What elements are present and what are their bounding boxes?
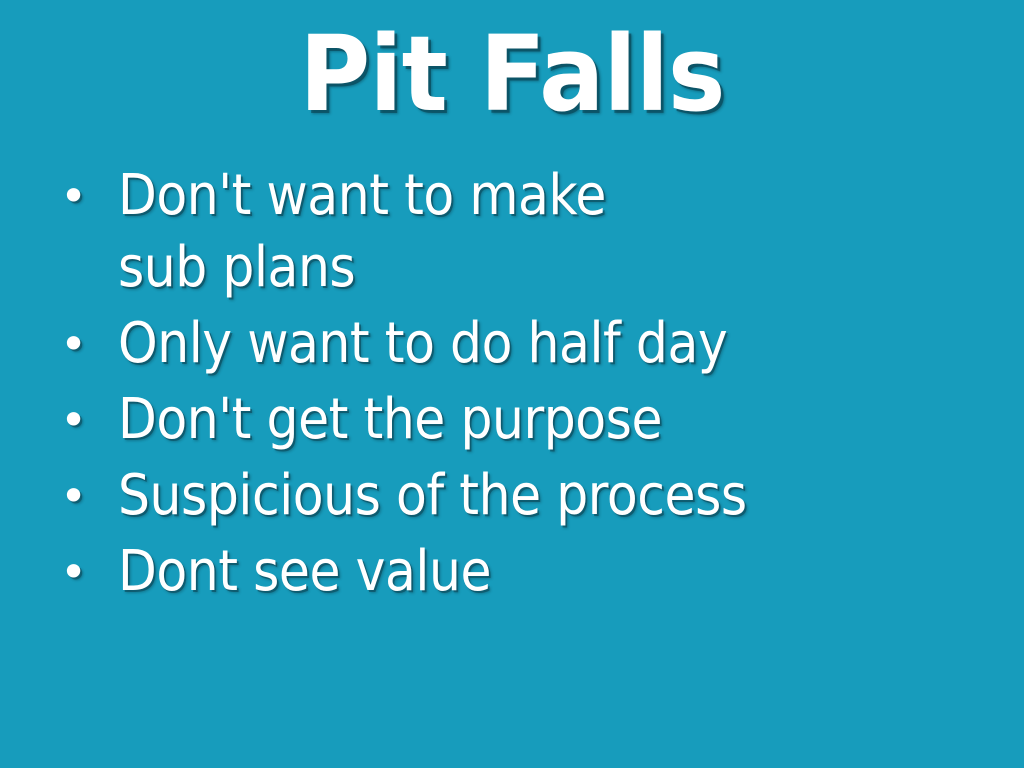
list-item: • Don't want to make sub plans	[52, 160, 1002, 304]
bullet-point-icon: •	[52, 160, 118, 232]
bullet-point-icon: •	[52, 460, 118, 532]
list-item: • Only want to do half day	[52, 308, 1002, 380]
slide-title: Pit Falls	[36, 14, 988, 134]
bullet-item-label: Don't get the purpose	[118, 384, 914, 456]
list-item: • Don't get the purpose	[52, 384, 1002, 456]
list-item: • Dont see value	[52, 536, 1002, 608]
list-item: • Suspicious of the process	[52, 460, 1002, 532]
bullet-item-label: Don't want to make sub plans	[118, 160, 694, 304]
bullet-item-label: Dont see value	[118, 536, 914, 608]
bullet-item-label: Only want to do half day	[118, 308, 914, 380]
bullet-item-label: Suspicious of the process	[118, 460, 914, 532]
bullet-point-icon: •	[52, 308, 118, 380]
bullet-point-icon: •	[52, 536, 118, 608]
presentation-slide: Pit Falls • Don't want to make sub plans…	[0, 0, 1024, 768]
bullet-point-icon: •	[52, 384, 118, 456]
bullet-list: • Don't want to make sub plans • Only wa…	[52, 160, 1002, 612]
